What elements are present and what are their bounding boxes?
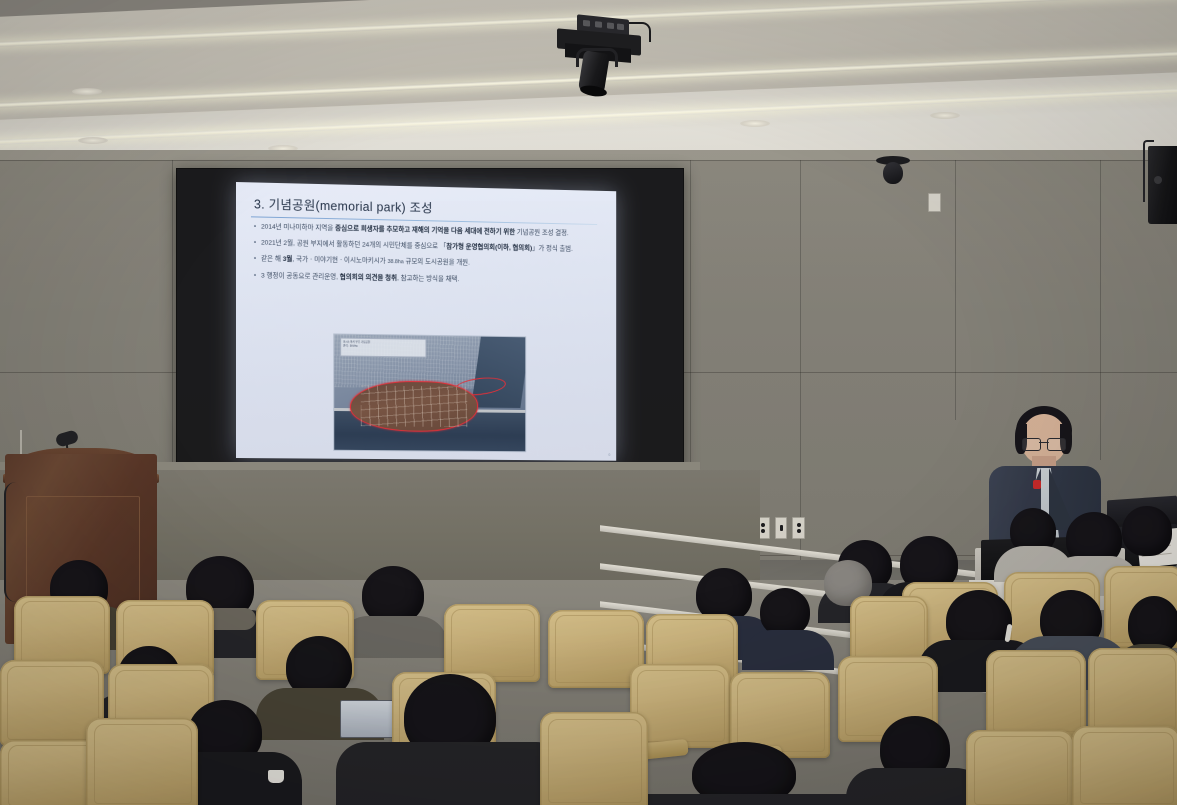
wall-panel-joint — [955, 160, 956, 420]
podium-cable — [4, 482, 24, 602]
bullet-text: 3 행정이 공동으로 관리운영, 협의회의 의견을 청취, 참고하는 방식을 채… — [261, 271, 601, 288]
recessed-downlight — [930, 112, 960, 119]
photo-caption-box: 이시노마키 부흥 기념공원 면적 : 38.8ha — [340, 338, 426, 358]
wall-speaker — [1148, 146, 1177, 224]
bullet-text: 같은 해 3월, 국가ㆍ미야기현ㆍ이시노마키시가 38.8ha 규모의 도시공원… — [261, 255, 601, 272]
wall-outlet-group[interactable] — [757, 517, 805, 537]
photo-river — [471, 337, 526, 408]
projection-screen: 3. 기념공원(memorial park) 조성 • 2014년 미나미하마 … — [236, 182, 616, 461]
slide-bullet: • 2021년 2월, 공원 부지에서 활동하던 24개의 시민단체를 중심으로… — [254, 239, 601, 257]
bullet-marker: • — [254, 271, 256, 282]
bullet-text: 2014년 미나미하마 지역을 중심으로 희생자를 추모하고 재해의 기억을 다… — [261, 223, 601, 241]
presentation-slide: 3. 기념공원(memorial park) 조성 • 2014년 미나미하마 … — [236, 182, 616, 461]
bullet-text: 2021년 2월, 공원 부지에서 활동하던 24개의 시민단체를 중심으로 「… — [261, 239, 601, 257]
lecture-hall-scene: 3. 기념공원(memorial park) 조성 • 2014년 미나미하마 … — [0, 0, 1177, 805]
attendee-shoulders — [336, 742, 566, 805]
eyeglasses-icon — [1022, 438, 1066, 449]
attendee-shoulders — [846, 768, 986, 805]
slide-bullet-list: • 2014년 미나미하마 지역을 중심으로 희생자를 추모하고 재해의 기억을… — [248, 222, 605, 288]
recessed-downlight — [78, 137, 108, 144]
auditorium-seat[interactable] — [86, 718, 198, 805]
attendee-shoulders — [626, 794, 866, 805]
auditorium-seat[interactable] — [1072, 726, 1177, 805]
recessed-downlight — [740, 120, 770, 127]
slide-bullet: • 같은 해 3월, 국가ㆍ미야기현ㆍ이시노마키시가 38.8ha 규모의 도시… — [254, 255, 601, 272]
bullet-marker: • — [254, 239, 256, 250]
auditorium-seat[interactable] — [966, 730, 1074, 805]
auditorium-seat[interactable] — [986, 650, 1086, 738]
bullet-marker: • — [254, 222, 256, 233]
auditorium-seat[interactable] — [444, 604, 540, 682]
auditorium-seat[interactable] — [540, 712, 648, 805]
photo-caption-line-2: 면적 : 38.8ha — [343, 345, 424, 350]
presenter-badge — [1033, 480, 1041, 489]
wall-panel-joint — [800, 160, 801, 560]
dome-camera-icon — [876, 156, 910, 190]
slide-page-number: 6 — [608, 452, 610, 457]
auditorium-seat[interactable] — [1088, 648, 1177, 736]
network-jack-icon[interactable] — [775, 517, 788, 539]
av-jack-icon[interactable] — [792, 517, 805, 539]
paper-cup — [268, 770, 284, 783]
photo-park-boundary — [350, 381, 478, 433]
attendee-head — [1122, 506, 1172, 556]
attendee-shoulders — [338, 616, 448, 658]
wall-seam — [0, 160, 1177, 161]
attendee-head — [760, 588, 810, 636]
projection-screen-frame: 3. 기념공원(memorial park) 조성 • 2014년 미나미하마 … — [176, 168, 684, 471]
ceiling-spotlight-rig — [549, 8, 649, 93]
slide-bullet: • 3 행정이 공동으로 관리운영, 협의회의 의견을 청취, 참고하는 방식을… — [254, 271, 601, 288]
attendee-laptop[interactable] — [340, 700, 400, 738]
slide-bullet: • 2014년 미나미하마 지역을 중심으로 희생자를 추모하고 재해의 기억을… — [254, 222, 601, 240]
slide-aerial-photo: 이시노마키 부흥 기념공원 면적 : 38.8ha — [333, 333, 526, 452]
wall-control-plate[interactable] — [928, 193, 941, 212]
attendee-shoulders — [742, 630, 834, 670]
recessed-downlight — [72, 88, 102, 95]
bullet-marker: • — [254, 255, 256, 266]
